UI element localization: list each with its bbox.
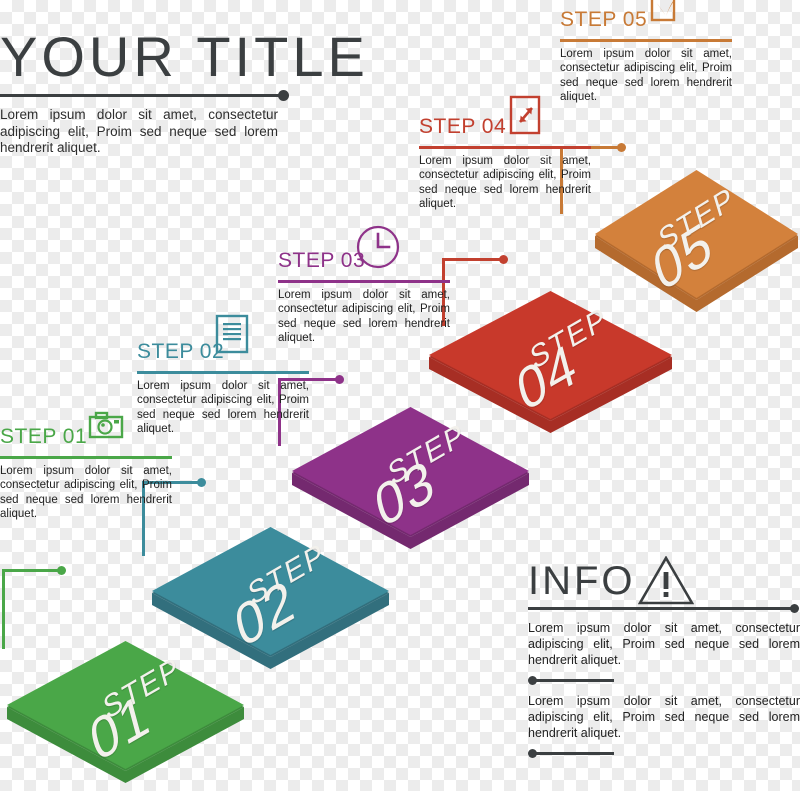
info-divider-dot [790,604,799,613]
step-rule-04 [419,146,591,149]
slab-shape-01 [2,641,249,791]
info-paragraph-1: Lorem ipsum dolor sit amet, consectetur … [528,620,800,668]
step-slab-01[interactable]: STEP 01 [2,641,249,791]
title-divider [0,90,288,102]
title-divider-line [0,94,282,97]
step-description-05: Lorem ipsum dolor sit amet, consectetur … [560,47,732,105]
step-description-02: Lorem ipsum dolor sit amet, consectetur … [137,379,309,437]
title-block: YOUR TITLE Lorem ipsum dolor sit amet, c… [0,28,380,157]
step-text-block-01: STEP 01 Lorem ipsum dolor sit amet, cons… [0,425,172,522]
step-text-block-05: STEP 05 Lorem ipsum dolor sit amet, cons… [560,8,732,105]
step-description-04: Lorem ipsum dolor sit amet, consectetur … [419,154,591,212]
info-divider [528,604,800,614]
info-paragraph-2: Lorem ipsum dolor sit amet, consectetur … [528,693,800,741]
info-block: INFO Lorem ipsum dolor sit amet, consect… [528,560,800,760]
step-text-block-03: STEP 03 Lorem ipsum dolor sit amet, cons… [278,249,450,346]
step-heading-04: STEP 04 [419,115,591,145]
step-rule-02 [137,371,309,374]
infographic-canvas: YOUR TITLE Lorem ipsum dolor sit amet, c… [0,0,800,791]
info-heading: INFO [528,560,800,604]
page-title: YOUR TITLE [0,28,380,86]
warning-triangle-icon [638,556,694,611]
resize-arrows-icon [509,95,541,140]
step-text-block-02: STEP 02 Lorem ipsum dolor sit amet, cons… [137,340,309,437]
step-description-01: Lorem ipsum dolor sit amet, consectetur … [0,464,172,522]
step-description-03: Lorem ipsum dolor sit amet, consectetur … [278,288,450,346]
step-label-04: STEP 04 [419,115,591,139]
title-divider-dot [278,90,289,101]
camera-icon [88,411,124,444]
info-sub-divider-line-2 [534,752,614,755]
clock-icon [356,225,400,274]
info-sub-divider-2 [528,748,800,760]
title-description: Lorem ipsum dolor sit amet, consectetur … [0,107,278,157]
step-heading-05: STEP 05 [560,8,732,38]
step-rule-03 [278,280,450,283]
checkmark-icon [646,0,692,29]
info-sub-divider-1 [528,675,800,687]
step-text-block-04: STEP 04 Lorem ipsum dolor sit amet, cons… [419,115,591,212]
info-sub-divider-line-1 [534,679,614,682]
info-divider-line [528,607,794,610]
step-heading-03: STEP 03 [278,249,450,279]
step-rule-05 [560,39,732,42]
document-icon [215,314,249,359]
step-rule-01 [0,456,172,459]
